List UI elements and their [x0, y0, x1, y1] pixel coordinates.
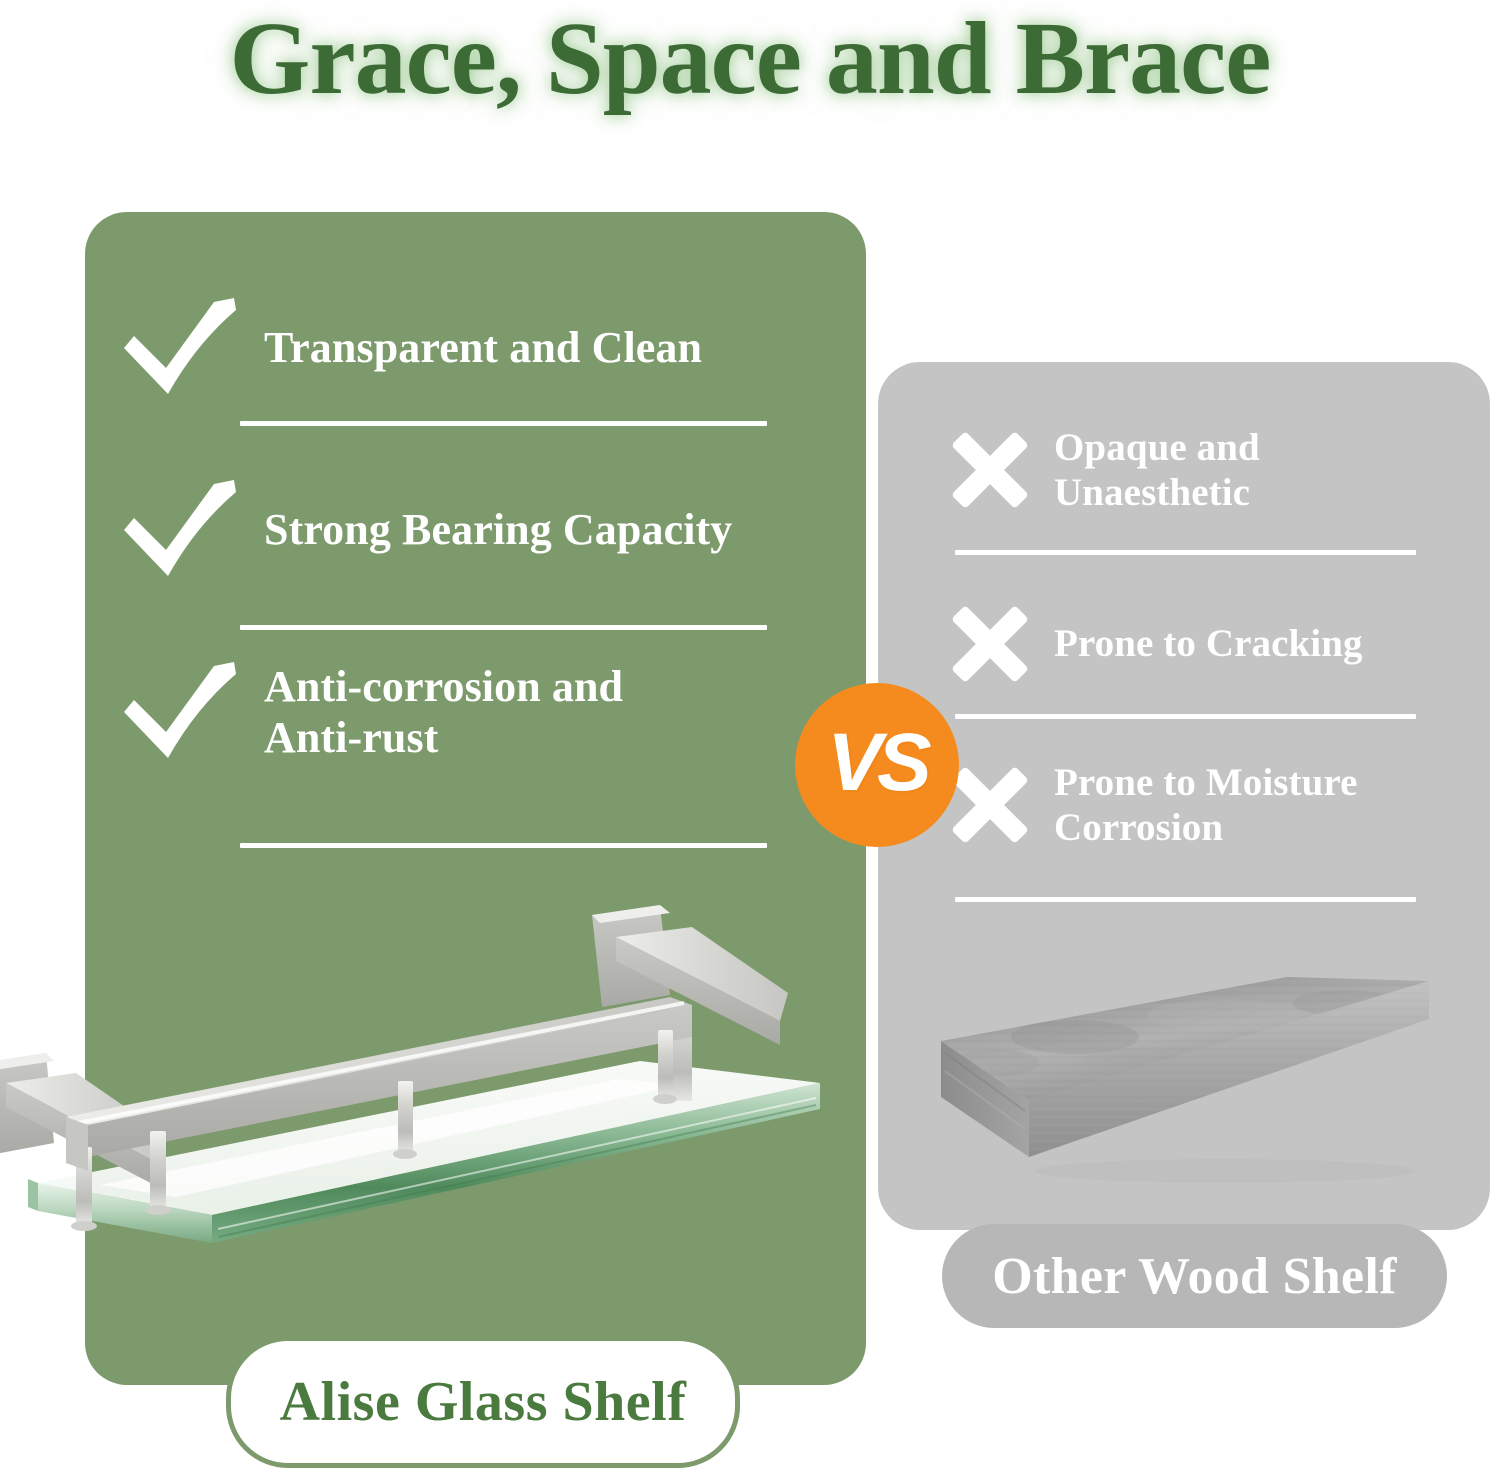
- left-feature-row: Strong Bearing Capacity: [118, 478, 732, 582]
- left-feature-label: Anti-corrosion and Anti-rust: [264, 661, 623, 763]
- left-divider: [240, 843, 767, 848]
- page-title: Grace, Space and Brace: [0, 4, 1500, 113]
- right-divider: [955, 714, 1416, 719]
- left-feature-label: Strong Bearing Capacity: [264, 504, 732, 555]
- right-divider: [955, 550, 1416, 555]
- right-feature-row: Opaque and Unaesthetic: [948, 425, 1260, 515]
- cross-icon: [948, 605, 1032, 683]
- left-product-label: Alise Glass Shelf: [280, 1370, 687, 1434]
- right-product-label-pill: Other Wood Shelf: [942, 1224, 1447, 1328]
- right-feature-label: Prone to Cracking: [1054, 621, 1363, 666]
- cross-icon: [948, 766, 1032, 844]
- cross-icon: [948, 431, 1032, 509]
- right-feature-row: Prone to Cracking: [948, 605, 1363, 683]
- right-feature-label: Opaque and Unaesthetic: [1054, 425, 1260, 515]
- left-divider: [240, 625, 767, 630]
- right-feature-row: Prone to Moisture Corrosion: [948, 760, 1358, 850]
- left-divider: [240, 421, 767, 426]
- left-feature-row: Transparent and Clean: [118, 296, 702, 400]
- right-product-label: Other Wood Shelf: [992, 1247, 1397, 1306]
- vs-badge-icon: VS: [795, 683, 959, 847]
- left-feature-row: Anti-corrosion and Anti-rust: [118, 660, 623, 764]
- check-icon: [118, 296, 240, 400]
- right-divider: [955, 897, 1416, 902]
- right-feature-label: Prone to Moisture Corrosion: [1054, 760, 1358, 850]
- left-product-label-pill: Alise Glass Shelf: [226, 1336, 740, 1468]
- check-icon: [118, 478, 240, 582]
- vs-label: VS: [827, 722, 926, 804]
- left-feature-label: Transparent and Clean: [264, 322, 702, 373]
- check-icon: [118, 660, 240, 764]
